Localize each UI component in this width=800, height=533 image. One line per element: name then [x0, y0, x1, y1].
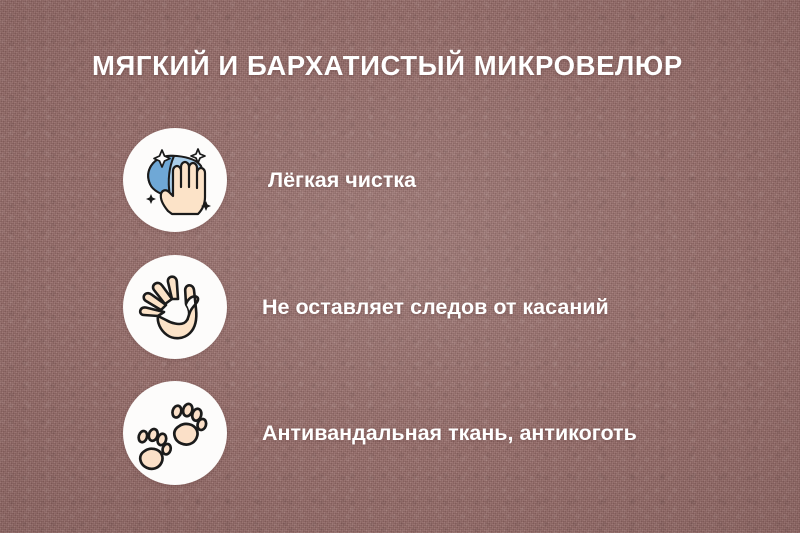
feature-item-easy-cleaning: Лёгкая чистка: [123, 128, 763, 232]
feature-label: Антивандальная ткань, антикоготь: [262, 421, 637, 446]
feature-item-anti-claw: Антивандальная ткань, антикоготь: [123, 381, 763, 485]
open-palm-hand-icon: [136, 268, 214, 346]
feature-label: Не оставляет следов от касаний: [262, 295, 609, 320]
feature-icon-badge: [123, 128, 227, 232]
feature-item-no-marks: Не оставляет следов от касаний: [123, 255, 763, 359]
poster-canvas: МЯГКИЙ И БАРХАТИСТЫЙ МИКРОВЕЛЮР: [0, 0, 800, 533]
feature-icon-badge: [123, 255, 227, 359]
hand-wiping-cloth-icon: [134, 139, 216, 221]
feature-icon-badge: [123, 381, 227, 485]
paw-prints-icon: [136, 394, 214, 472]
poster-title: МЯГКИЙ И БАРХАТИСТЫЙ МИКРОВЕЛЮР: [92, 50, 683, 82]
feature-label: Лёгкая чистка: [268, 168, 416, 193]
